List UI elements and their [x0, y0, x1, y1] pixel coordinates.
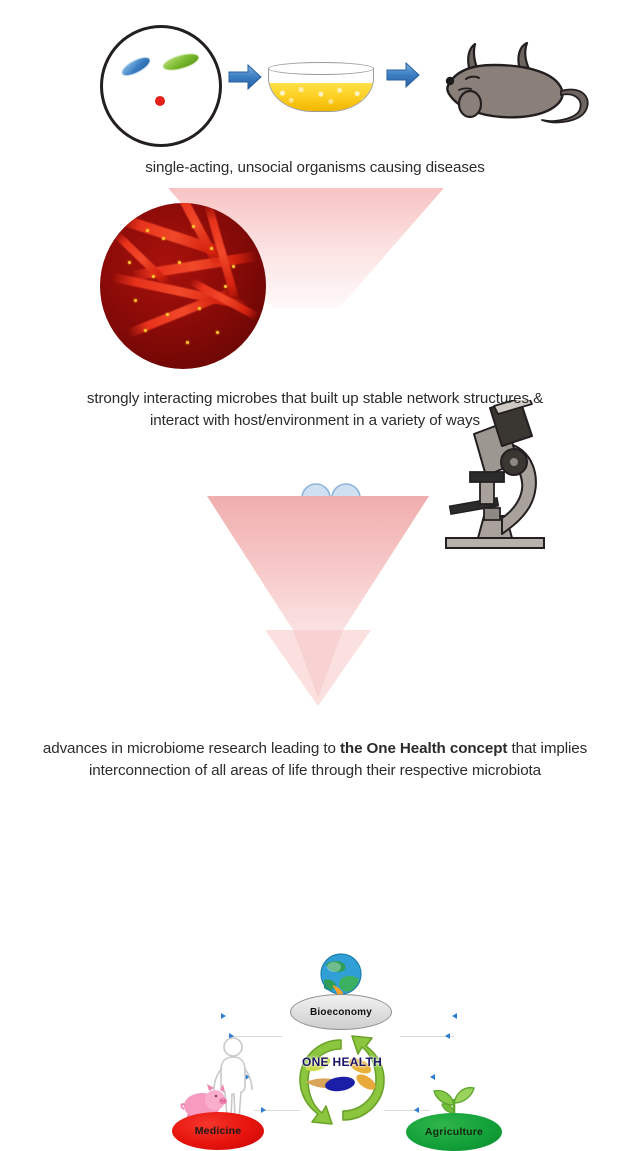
- agriculture-node[interactable]: Agriculture: [406, 1113, 502, 1151]
- arrow-right-second-icon: [386, 62, 420, 88]
- flow-marker-icon: [430, 1074, 435, 1080]
- panel-single-acting-organisms: single-acting, unsocial organisms causin…: [0, 0, 630, 190]
- panel-three-caption: advances in microbiome research leading …: [18, 738, 612, 782]
- flow-marker-icon: [221, 1013, 226, 1019]
- panel-three-caption-bold: the One Health concept: [340, 740, 507, 757]
- panel-two-caption: strongly interacting microbes that built…: [18, 388, 612, 432]
- coccus-red-bacterium-icon: [155, 96, 165, 106]
- panel-two-caption-line-1: strongly interacting microbes that built…: [18, 388, 612, 410]
- arrow-right-first-icon: [228, 64, 262, 90]
- flow-marker-icon: [414, 1107, 419, 1113]
- micrograph-circle: [100, 203, 266, 369]
- petri-circle: [100, 25, 222, 147]
- one-health-center-label: ONE HEALTH: [292, 1055, 392, 1069]
- panel-two-caption-line-2: interact with host/environment in a vari…: [18, 410, 612, 432]
- petri-dish-medium: [268, 83, 374, 111]
- flow-marker-icon: [452, 1013, 457, 1019]
- panel-one-caption: single-acting, unsocial organisms causin…: [18, 157, 612, 179]
- panel-three-caption-before: advances in microbiome research leading …: [43, 740, 340, 757]
- bioeconomy-label: Bioeconomy: [310, 1007, 372, 1018]
- medicine-node[interactable]: Medicine: [172, 1112, 264, 1150]
- petri-dish: [268, 66, 374, 114]
- figure-root: single-acting, unsocial organisms causin…: [0, 0, 630, 820]
- medicine-label: Medicine: [195, 1125, 242, 1137]
- agriculture-label: Agriculture: [425, 1126, 483, 1138]
- lab-mouse-icon: [432, 28, 596, 138]
- panel-one-health-concept: Bioeconomy ONE HEALTH Medicine Agricultu…: [0, 470, 630, 715]
- flow-marker-icon: [445, 1033, 450, 1039]
- petri-dish-rim: [268, 62, 374, 75]
- panel-interacting-microbes: strongly interacting microbes that built…: [0, 188, 630, 388]
- pink-funnel-shape: [203, 490, 433, 710]
- flow-marker-icon: [261, 1107, 266, 1113]
- bioeconomy-node[interactable]: Bioeconomy: [290, 994, 392, 1030]
